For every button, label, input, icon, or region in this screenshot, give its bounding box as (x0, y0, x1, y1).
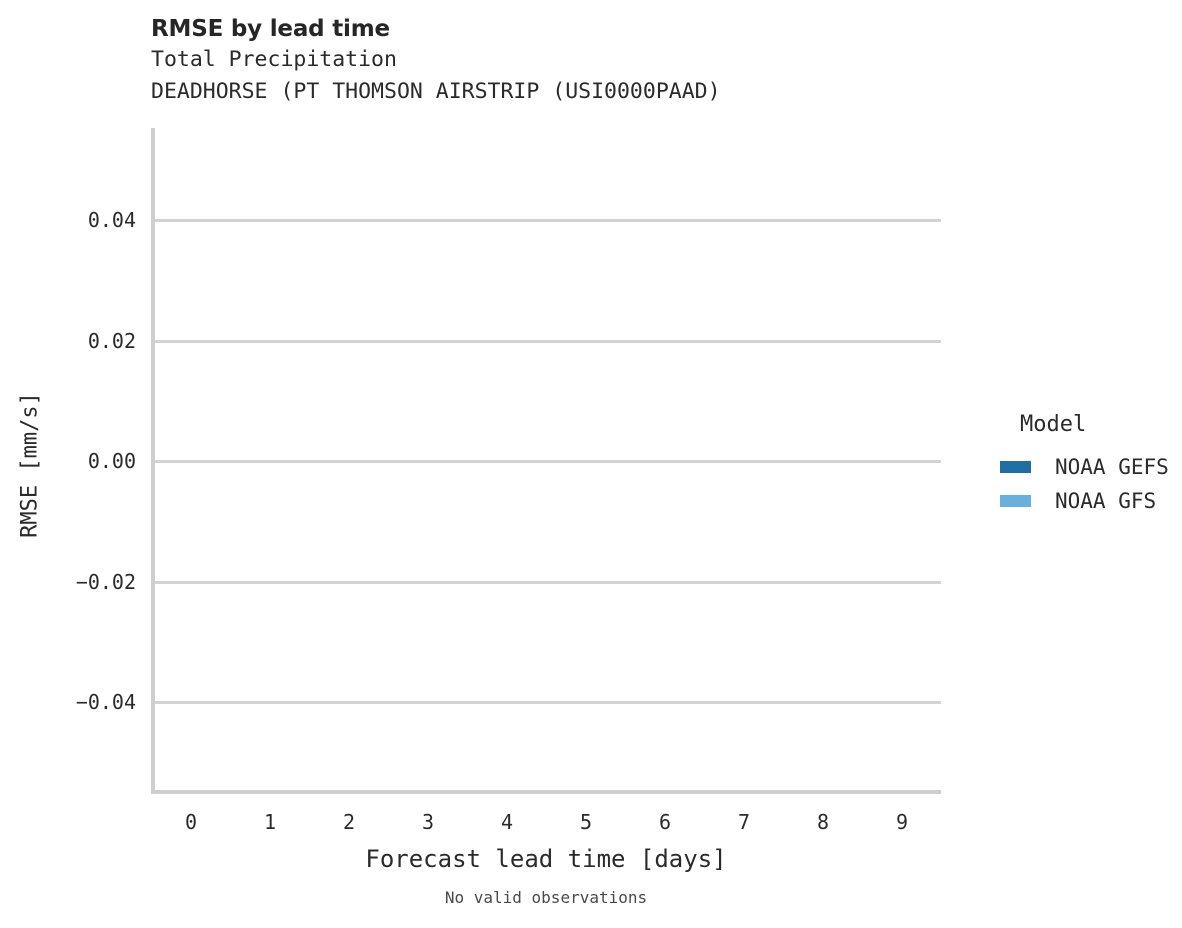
x-tick-label-4: 4 (487, 810, 527, 834)
x-tick-label-3: 3 (408, 810, 448, 834)
chart-title: RMSE by lead time (151, 14, 1051, 44)
plot-area (151, 128, 941, 792)
y-tick-label-2: 0.00 (71, 449, 136, 473)
x-tick-label-7: 7 (724, 810, 764, 834)
legend-item-label: NOAA GFS (1055, 489, 1156, 513)
legend-item-noaa-gefs[interactable]: NOAA GEFS (1000, 450, 1169, 484)
title-block: RMSE by lead time Total Precipitation DE… (151, 14, 1051, 108)
y-tick-label-4: −0.04 (59, 690, 136, 714)
x-tick-label-6: 6 (645, 810, 685, 834)
no-data-annotation: No valid observations (151, 888, 941, 907)
x-tick-label-1: 1 (250, 810, 290, 834)
y-tick-label-1: 0.02 (71, 329, 136, 353)
legend-title: Model (1020, 412, 1169, 437)
gridline-1 (151, 340, 941, 343)
y-tick-label-0: 0.04 (71, 208, 136, 232)
x-tick-label-2: 2 (329, 810, 369, 834)
legend-swatch-icon (1000, 495, 1031, 507)
legend: Model NOAA GEFS NOAA GFS (1000, 412, 1169, 518)
gridline-4 (151, 701, 941, 704)
gridline-0 (151, 219, 941, 222)
x-tick-label-5: 5 (566, 810, 606, 834)
x-tick-label-8: 8 (803, 810, 843, 834)
y-axis-spine (151, 128, 155, 794)
gridline-2 (151, 460, 941, 463)
chart-subtitle-station: DEADHORSE (PT THOMSON AIRSTRIP (USI0000P… (151, 76, 1051, 108)
legend-swatch-icon (1000, 461, 1031, 473)
chart-subtitle-variable: Total Precipitation (151, 44, 1051, 76)
x-tick-label-9: 9 (882, 810, 922, 834)
legend-item-label: NOAA GEFS (1055, 455, 1169, 479)
gridline-3 (151, 581, 941, 584)
y-tick-label-3: −0.02 (59, 570, 136, 594)
legend-item-noaa-gfs[interactable]: NOAA GFS (1000, 484, 1169, 518)
x-axis-label: Forecast lead time [days] (151, 845, 941, 873)
y-axis-label: RMSE [mm/s] (18, 392, 43, 538)
x-tick-label-0: 0 (171, 810, 211, 834)
x-axis-spine (151, 790, 941, 794)
